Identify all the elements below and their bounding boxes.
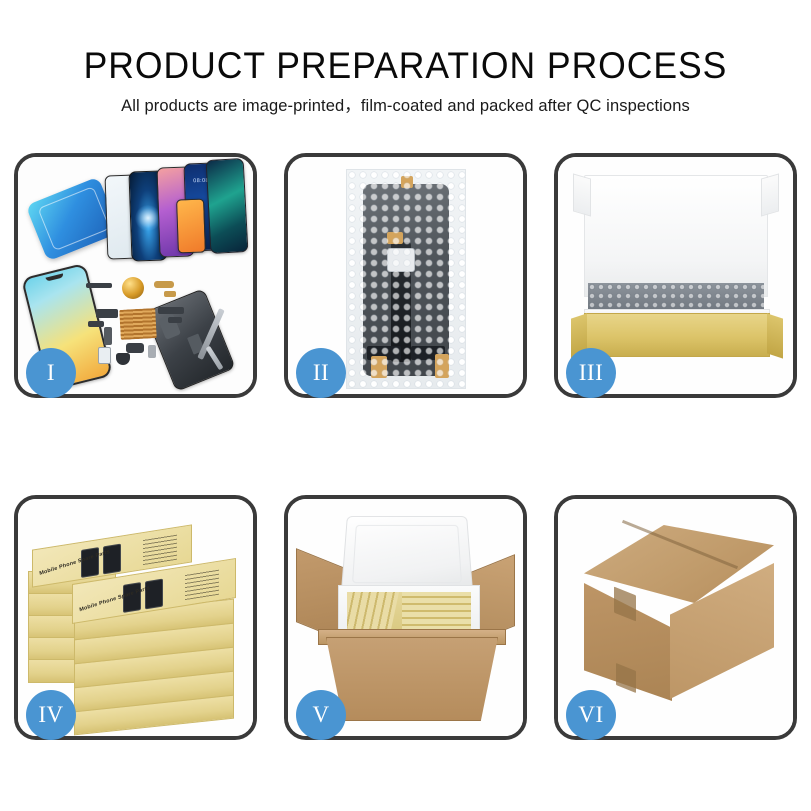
process-step-6: VI bbox=[554, 495, 797, 740]
process-step-2: II bbox=[284, 153, 527, 398]
box-art-textlines-b bbox=[185, 569, 219, 600]
step-badge-2: II bbox=[296, 348, 346, 398]
page-subtitle: All products are image-printed，film-coat… bbox=[0, 96, 811, 116]
part-camera-module bbox=[126, 343, 144, 353]
part-sim-tray bbox=[98, 347, 111, 364]
phone-back-housing bbox=[144, 288, 236, 392]
box-art-textlines-a bbox=[143, 534, 177, 565]
part-module-4 bbox=[168, 317, 182, 323]
step-badge-4: IV bbox=[26, 690, 76, 740]
process-step-1: I bbox=[14, 153, 257, 398]
foam-box-lid bbox=[341, 516, 473, 594]
part-connector bbox=[148, 345, 156, 358]
carton-body bbox=[326, 637, 498, 721]
bubble-texture-overlay bbox=[347, 170, 465, 388]
step-badge-6: VI bbox=[566, 690, 616, 740]
white-box-lid bbox=[584, 175, 768, 297]
chip-array bbox=[119, 308, 157, 340]
phone-screen-teal bbox=[206, 158, 249, 254]
product-preparation-infographic: PRODUCT PREPARATION PROCESS All products… bbox=[0, 0, 811, 811]
box-label-back: Mobile Phone Spare Parts bbox=[39, 549, 110, 577]
part-module-3 bbox=[158, 307, 184, 314]
gold-box-tray bbox=[584, 313, 770, 357]
process-step-3: III bbox=[554, 153, 797, 398]
box-art-screen-b2 bbox=[145, 579, 163, 610]
process-step-4: Mobile Phone Spare Parts Mobile Phone Sp… bbox=[14, 495, 257, 740]
step-badge-1: I bbox=[26, 348, 76, 398]
part-module-1 bbox=[96, 309, 118, 318]
process-steps-grid: I bbox=[14, 153, 797, 740]
step-badge-3: III bbox=[566, 348, 616, 398]
page-title: PRODUCT PREPARATION PROCESS bbox=[16, 46, 795, 86]
part-flex-cable bbox=[104, 327, 112, 345]
part-flex-gold-2 bbox=[164, 291, 176, 297]
part-earpiece bbox=[86, 283, 112, 288]
part-flex-gold-1 bbox=[154, 281, 174, 288]
step-badge-5: V bbox=[296, 690, 346, 740]
process-step-5: V bbox=[284, 495, 527, 740]
phone-screen-orange bbox=[176, 199, 206, 254]
part-vibrator bbox=[116, 353, 130, 365]
bubble-wrap-bag bbox=[346, 169, 466, 389]
page-header: PRODUCT PREPARATION PROCESS All products… bbox=[0, 0, 811, 116]
speaker-component bbox=[122, 277, 144, 299]
box-art-screen-a2 bbox=[103, 544, 121, 575]
part-module-2 bbox=[88, 321, 104, 327]
